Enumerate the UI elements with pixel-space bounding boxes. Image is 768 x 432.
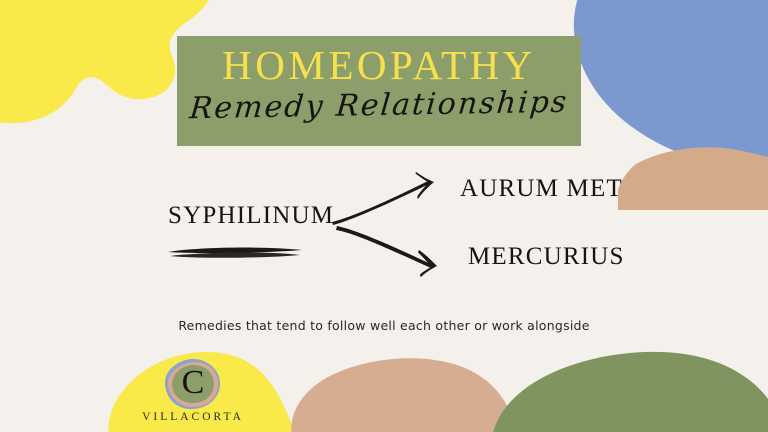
tan-blob-bottom-center [290,356,520,432]
remedy-relationship-diagram: SYPHILINUM AURUM MET MERCURIUS [0,160,768,290]
brand-logo: C VILLACORTA [133,358,253,428]
page-subtitle: Remedy Relationships [188,86,570,126]
remedy-target-mercurius: MERCURIUS [468,243,625,271]
arrow-to-mercurius [335,222,455,287]
green-blob-bottom-right [492,348,768,432]
poster-canvas: HOMEOPATHY Remedy Relationships SYPHILIN… [0,0,768,432]
remedy-target-aurum-met: AURUM MET [460,175,623,203]
logo-brand-name: VILLACORTA [142,411,244,423]
blue-blob-top-right [558,0,768,182]
logo-circle-icon: C [162,358,224,410]
page-title: HOMEOPATHY [222,44,536,87]
caption-text: Remedies that tend to follow well each o… [0,318,768,333]
hand-drawn-underline [166,244,306,265]
title-banner: HOMEOPATHY Remedy Relationships [177,36,581,146]
logo-letter: C [162,358,224,410]
remedy-source-syphilinum: SYPHILINUM [168,202,334,230]
